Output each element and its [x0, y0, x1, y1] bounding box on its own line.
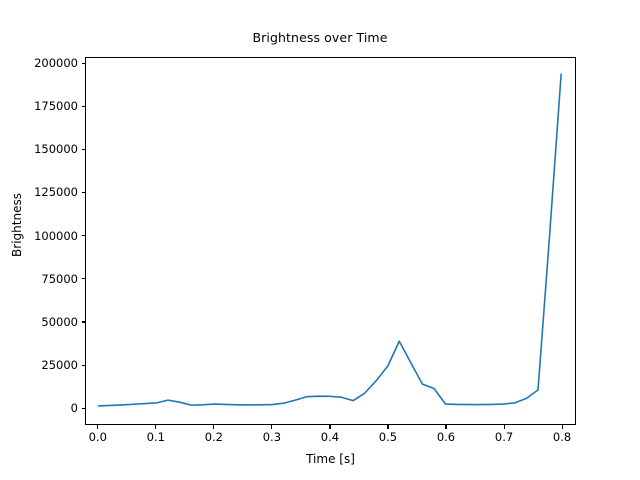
x-tick-label: 0.4 — [321, 430, 339, 444]
x-tick-mark — [329, 425, 330, 429]
x-tick-mark — [155, 425, 156, 429]
y-tick-label: 75000 — [41, 272, 78, 286]
x-tick-mark — [387, 425, 388, 429]
y-tick-label: 0 — [71, 401, 78, 415]
y-tick-label: 125000 — [34, 185, 78, 199]
x-tick-mark — [562, 425, 563, 429]
plot-area — [85, 57, 576, 425]
chart-figure: Brightness over Time 0250005000075000100… — [0, 0, 640, 480]
x-tick-label: 0.6 — [437, 430, 455, 444]
chart-title: Brightness over Time — [0, 30, 640, 45]
x-tick-mark — [445, 425, 446, 429]
y-tick-label: 50000 — [41, 315, 78, 329]
brightness-line — [99, 74, 561, 406]
x-tick-mark — [504, 425, 505, 429]
x-tick-label: 0.0 — [89, 430, 107, 444]
x-tick-label: 0.5 — [379, 430, 397, 444]
y-tick-label: 200000 — [34, 56, 78, 70]
y-tick-label: 150000 — [34, 142, 78, 156]
x-tick-label: 0.8 — [553, 430, 571, 444]
y-tick-label: 100000 — [34, 229, 78, 243]
x-tick-mark — [97, 425, 98, 429]
x-tick-mark — [271, 425, 272, 429]
data-line-series — [86, 58, 575, 424]
x-axis-label: Time [s] — [85, 452, 576, 466]
y-axis-label: Brightness — [10, 115, 24, 335]
x-tick-label: 0.1 — [147, 430, 165, 444]
x-tick-label: 0.3 — [263, 430, 281, 444]
y-tick-label: 175000 — [34, 99, 78, 113]
x-tick-mark — [213, 425, 214, 429]
x-tick-label: 0.2 — [205, 430, 223, 444]
x-tick-label: 0.7 — [495, 430, 513, 444]
y-tick-label: 25000 — [41, 358, 78, 372]
